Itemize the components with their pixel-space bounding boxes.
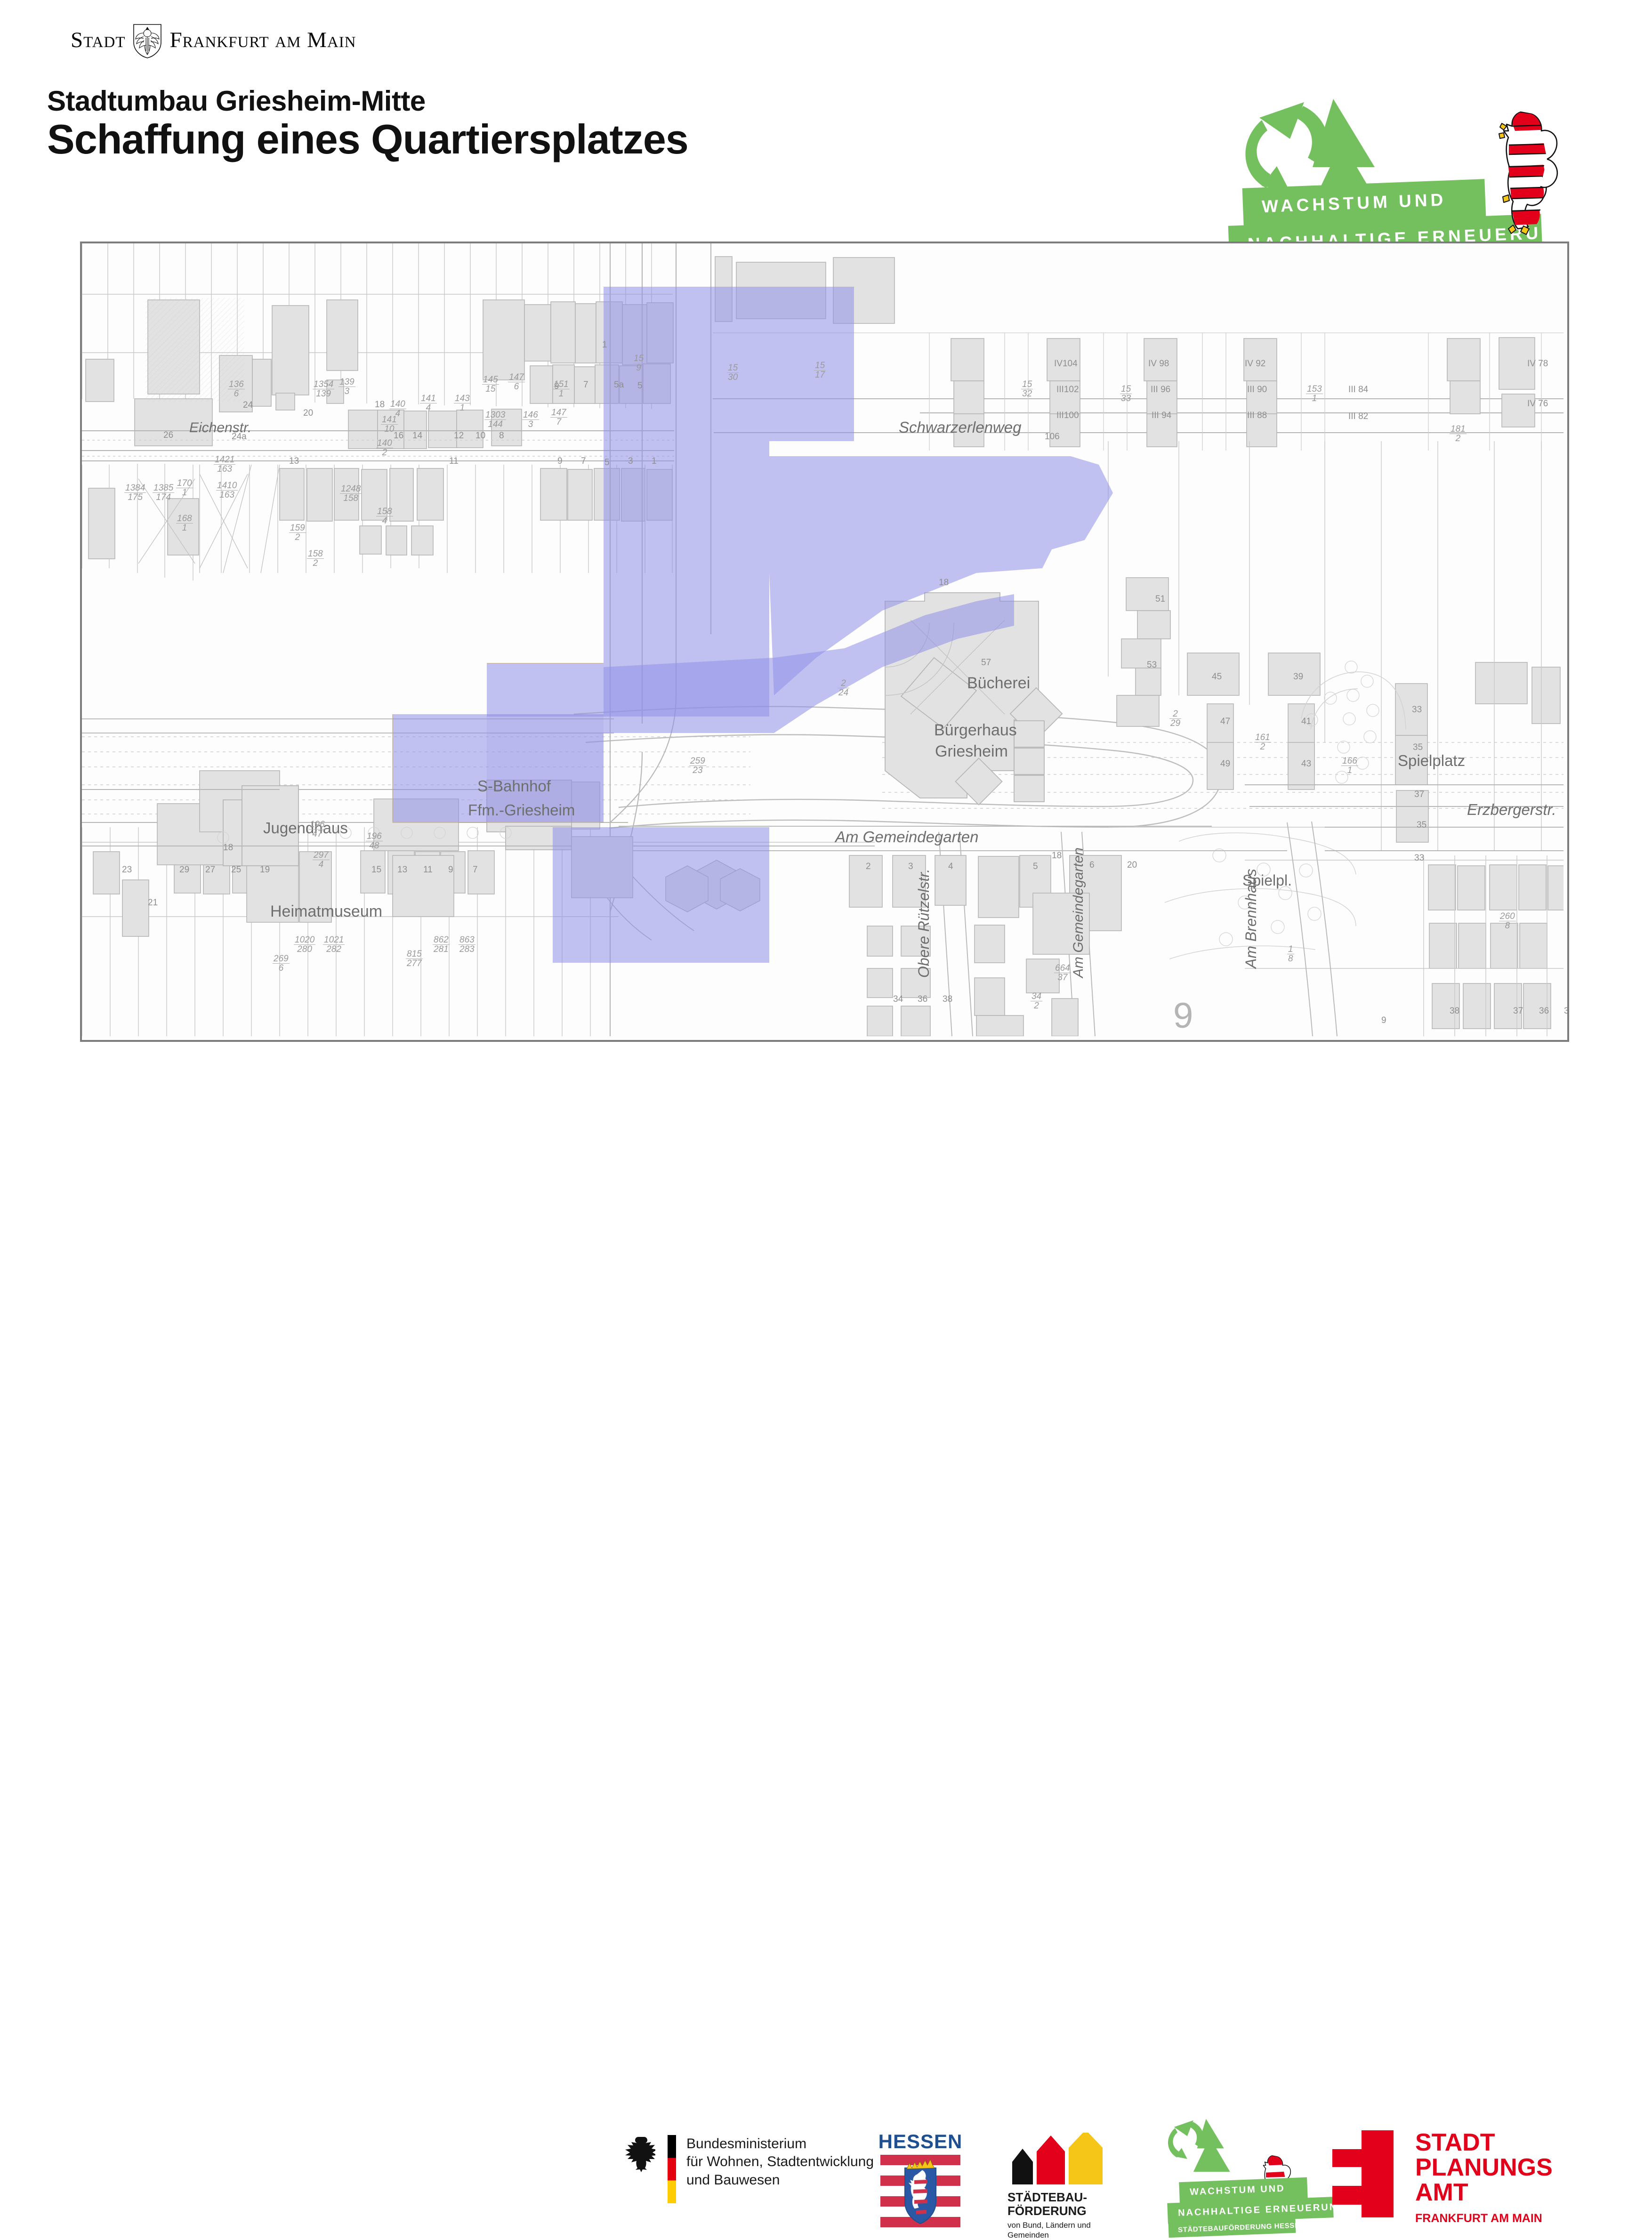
staedtebaufoerderung-logo: STÄDTEBAU- FÖRDERUNG von Bund, Ländern u… (1007, 2133, 1109, 2240)
stadtplanungsamt-mark-icon (1332, 2130, 1394, 2217)
map-street-label: Erzbergerstr. (1467, 801, 1556, 819)
map-house-number: 33 (1412, 705, 1422, 715)
map-house-number: 45 (1212, 672, 1222, 682)
map-parcel-fraction: 1385174 (153, 483, 174, 502)
map-house-number: 11 (449, 456, 459, 467)
stbf-line-1: STÄDTEBAU- (1007, 2191, 1109, 2204)
map-parcel-fraction: 1021282 (323, 935, 345, 954)
map-place-label: Ffm.-Griesheim (468, 801, 575, 819)
hessen-coat-of-arms-icon (876, 2153, 965, 2228)
map-parcel-fraction: 1477 (550, 408, 567, 427)
map-parcel-fraction: 1584 (376, 507, 393, 525)
map-parcel-fraction: 1661 (1341, 757, 1358, 775)
map-house-number: III 82 (1348, 411, 1368, 422)
map-parcel-fraction: 1530 (727, 363, 739, 382)
map-house-number: 18 (223, 843, 233, 853)
map-parcel-fraction: 1681 (176, 514, 193, 532)
map-house-number: III102 (1056, 385, 1079, 395)
spa-line-1: STADT (1415, 2130, 1553, 2155)
map-parcel-fraction: 1410163 (216, 481, 238, 500)
hessen-wordmark: HESSEN (876, 2130, 965, 2153)
map-house-number: 18 (375, 400, 385, 410)
map-parcel-fraction: 2608 (1499, 912, 1516, 930)
map-parcel-fraction: 19647 (309, 820, 326, 838)
city-logo-pre: Stadt (71, 29, 125, 51)
map-house-number: 7 (583, 380, 588, 390)
map-house-number: 23 (122, 865, 132, 875)
page-footer: Bundesministerium für Wohnen, Stadtentwi… (0, 1059, 1652, 1168)
map-house-number: 5 (604, 458, 610, 468)
spa-sub: FRANKFURT AM MAIN (1415, 2212, 1553, 2225)
german-flag-bar (668, 2135, 676, 2203)
map-place-label: Spielplatz (1398, 752, 1465, 770)
page-title: Schaffung eines Quartiersplatzes (47, 115, 688, 163)
stbf-sub-2: Gemeinden (1007, 2231, 1109, 2240)
map-house-number: 20 (303, 408, 313, 419)
map-house-number: 24a (232, 432, 247, 442)
stbf-text: STÄDTEBAU- FÖRDERUNG (1007, 2191, 1109, 2217)
map-house-number: 8 (499, 431, 504, 441)
map-place-label: Griesheim (935, 742, 1008, 761)
map-house-number: 51 (1155, 594, 1165, 604)
map-street-label: Am Gemeindegarten (835, 828, 979, 846)
map-house-number: 37 (1414, 790, 1424, 800)
map-house-number: 20 (1127, 860, 1137, 870)
spa-line-3: AMT (1415, 2180, 1553, 2205)
stadtplanungsamt-logo: STADT PLANUNGS AMT FRANKFURT AM MAIN (1332, 2130, 1553, 2225)
map-place-label: Bücherei (967, 674, 1030, 693)
map-house-number: III 96 (1151, 385, 1170, 395)
map-house-number: 4 (948, 862, 953, 872)
map-house-number: 19 (260, 865, 270, 875)
map-parcel-fraction: 1020280 (294, 935, 315, 954)
map-parcel-fraction: 1476 (508, 373, 525, 391)
map-place-label: S-Bahnhof (477, 777, 551, 795)
map-house-number: 25 (231, 865, 241, 875)
map-house-number: 14 (412, 431, 422, 441)
spa-line-2: PLANUNGS (1415, 2155, 1553, 2180)
map-house-number: 49 (1220, 759, 1230, 769)
map-parcel-fraction: 1533 (1120, 385, 1132, 403)
map-house-number: 1 (602, 340, 607, 350)
map-house-number: 57 (981, 658, 991, 668)
map-house-number: 12 (454, 431, 464, 441)
map-house-number: 38 (1450, 1006, 1459, 1016)
map-house-number: 7 (581, 456, 586, 467)
map-parcel-fraction: 18 (1287, 945, 1294, 963)
map-parcel-fraction: 862281 (433, 935, 450, 954)
map-parcel-fraction: 1402 (376, 439, 393, 457)
map-house-number: 13 (289, 456, 299, 467)
map-parcel-fraction: 1366 (228, 380, 245, 398)
map-house-number: III 94 (1152, 411, 1171, 421)
map-parcel-fraction: 1393 (338, 378, 355, 396)
map-parcel-fraction: 25923 (689, 757, 706, 775)
map-street-label: Schwarzerlenweg (899, 419, 1021, 436)
map-parcel-fraction: 1531 (1306, 385, 1323, 403)
map-house-number: 5 (1033, 862, 1038, 872)
map-house-number: 13 (397, 865, 407, 875)
map-house-number: 7 (473, 865, 478, 875)
map-place-label: Bürgerhaus (934, 721, 1017, 740)
map-house-number: 24 (243, 400, 253, 411)
page-subtitle: Stadtumbau Griesheim-Mitte (47, 85, 426, 117)
map-parcel-fraction: 19648 (366, 832, 383, 850)
map-house-number: 15 (371, 865, 381, 875)
map-house-number: 38 (943, 994, 952, 1005)
map-house-number: IV104 (1054, 359, 1078, 369)
map-parcel-fraction: 815277 (406, 950, 423, 968)
wachstum-erneuerung-footer-logo: WACHSTUM UND NACHHALTIGE ERNEUERUNG STÄD… (1163, 2135, 1361, 2222)
map-house-number: 43 (1301, 759, 1311, 769)
map-parcel-fraction: 1701 (176, 479, 193, 497)
map-house-number: 2 (866, 862, 871, 872)
map-house-number: 53 (1147, 660, 1157, 670)
map-house-number: 34 (893, 994, 903, 1005)
map-house-number: IV 76 (1527, 399, 1548, 409)
map-house-number: 9 (1381, 1015, 1386, 1026)
map-house-number: 5 (637, 381, 643, 391)
page-header: Stadt Frankfurt am Main (0, 0, 1652, 235)
map-parcel-fraction: 1384175 (124, 483, 146, 502)
map-parcel-fraction: 1532 (1021, 380, 1033, 398)
map-parcel-fraction: 1592 (289, 524, 306, 542)
map-house-number: 37 (1513, 1006, 1523, 1016)
bmwsb-text: Bundesministerium für Wohnen, Stadtentwi… (686, 2135, 874, 2189)
map-house-number: 27 (205, 865, 215, 875)
map-house-number: 18 (1052, 851, 1062, 861)
map-house-number: 39 (1293, 672, 1303, 682)
map-place-label: Jugendhaus (263, 819, 348, 837)
map-parcel-fraction: 2974 (313, 851, 330, 869)
map-house-number: 47 (1220, 717, 1230, 727)
map-house-number: 9 (557, 456, 563, 467)
map-house-number: 35 (1413, 742, 1423, 753)
map-parcel-fraction: 1414 (420, 394, 437, 412)
map-house-number: 11 (423, 865, 433, 875)
three-houses-icon (1007, 2133, 1109, 2184)
map-house-number: 26 (163, 430, 173, 441)
map-house-number: 29 (179, 865, 189, 875)
svg-text:9: 9 (1173, 996, 1193, 1036)
map-parcel-fraction: 1431 (454, 394, 471, 412)
bmwsb-line-3: und Bauwesen (686, 2171, 874, 2189)
map-parcel-fraction: 1463 (522, 411, 539, 429)
map-house-number: III 84 (1348, 385, 1368, 395)
map-house-number: 6 (1089, 860, 1095, 870)
map-house-number: 33 (1414, 853, 1424, 863)
map-street-label: Obere Rützelstr. (915, 869, 933, 978)
map-house-number: 35 (1564, 1006, 1569, 1016)
map-house-number: 9 (448, 865, 453, 875)
map-house-number: 10 (475, 431, 485, 441)
bundesadler-icon (621, 2135, 655, 2174)
map-house-number: 18 (939, 578, 949, 588)
city-logo-post: Frankfurt am Main (169, 29, 356, 51)
city-logo: Stadt Frankfurt am Main (71, 24, 372, 56)
map-house-number: 35 (1417, 820, 1426, 830)
map-parcel-fraction: 1612 (1254, 733, 1271, 751)
map-parcel-fraction: 1812 (1450, 425, 1467, 443)
map-parcel-fraction: 14110 (381, 415, 398, 434)
map-parcel-fraction: 1354139 (313, 380, 334, 398)
map-parcel-fraction: 1248158 (340, 484, 362, 503)
map-parcel-fraction: 14515 (482, 375, 499, 394)
map-parcel-fraction: 66437 (1054, 964, 1071, 982)
map-house-number: 106 (1045, 432, 1060, 442)
hessen-logo: HESSEN (876, 2130, 965, 2231)
map-parcel-fraction: 1303144 (484, 411, 506, 429)
map-house-number: 3 (628, 456, 633, 467)
map-parcel-fraction: 2696 (273, 954, 290, 973)
map-house-number: 3 (908, 862, 913, 872)
map-parcel-fraction: 1421163 (214, 455, 235, 474)
stbf-line-2: FÖRDERUNG (1007, 2204, 1109, 2218)
map-parcel-fraction: 224 (838, 679, 849, 697)
hessen-lion-icon (1488, 104, 1563, 240)
map-house-number: III 88 (1247, 411, 1267, 421)
map-house-number: 36 (918, 994, 927, 1005)
map-parcel-fraction: 342 (1031, 992, 1042, 1010)
map-house-number: III100 (1056, 411, 1079, 421)
map-parcel-fraction: 1511 (553, 380, 570, 398)
map-house-number: 21 (148, 898, 158, 908)
map-house-number: IV 98 (1148, 359, 1169, 369)
map-house-number: 5a (614, 380, 624, 390)
frankfurt-eagle-crest-icon (132, 24, 163, 56)
map-street-label: Am Gemeindegarten (1071, 847, 1087, 978)
map-place-label: Spielpl. (1242, 872, 1292, 889)
map-parcel-fraction: 1517 (814, 361, 826, 379)
bmwsb-logo: Bundesministerium für Wohnen, Stadtentwi… (621, 2135, 874, 2203)
map-parcel-fraction: 1582 (307, 549, 324, 568)
cadastral-map[interactable]: 9 Eichenstr.SchwarzerlenwegAm Gemeindega… (80, 242, 1569, 1042)
stbf-sub: von Bund, Ländern und Gemeinden (1007, 2221, 1109, 2240)
bmwsb-line-2: für Wohnen, Stadtentwicklung (686, 2153, 874, 2171)
map-house-number: IV 92 (1245, 359, 1265, 369)
map-house-number: 1 (652, 456, 657, 467)
map-house-number: IV 78 (1527, 359, 1548, 369)
stbf-sub-1: von Bund, Ländern und (1007, 2221, 1109, 2230)
map-parcel-fraction: 229 (1169, 709, 1181, 728)
map-house-number: III 90 (1247, 385, 1267, 395)
map-house-number: 36 (1539, 1006, 1549, 1016)
map-parcel-fraction: 159 (633, 354, 645, 372)
bmwsb-line-1: Bundesministerium (686, 2135, 874, 2153)
map-place-label: Heimatmuseum (270, 902, 382, 921)
map-parcel-fraction: 863283 (459, 935, 475, 954)
map-house-number: 41 (1301, 717, 1311, 727)
